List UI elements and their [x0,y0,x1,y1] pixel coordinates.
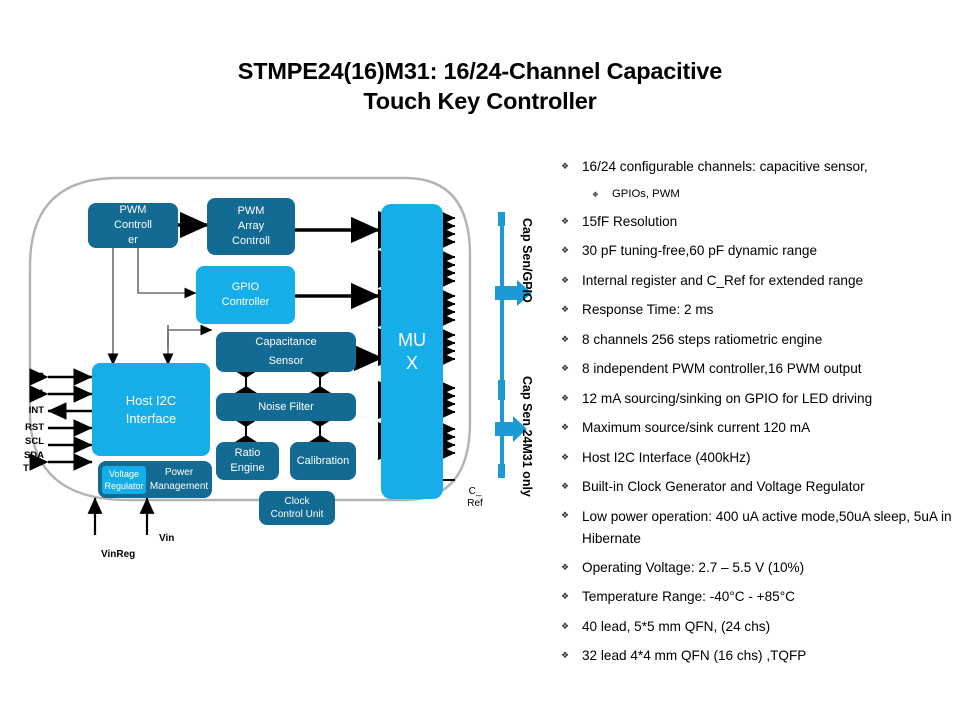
pin-label-a0: A0 [0,371,44,382]
bullet-diamond-icon: ❖ [561,207,569,237]
feature-item: ❖40 lead, 5*5 mm QFN, (24 chs) [556,612,956,642]
block-pwm-array-controll-label: PWM Array Controll [232,204,270,249]
channel-group-upper-label: Cap Sen/GPIO [520,218,534,303]
block-ratio-engine-label: Ratio Engine [230,446,264,476]
feature-item: ❖30 pF tuning-free,60 pF dynamic range [556,236,956,266]
feature-item: ❖32 lead 4*4 mm QFN (16 chs) ,TQFP [556,641,956,671]
bullet-diamond-icon: ❖ [561,472,569,502]
block-diagram: PWM Controll er PWM Array Controll GPIO … [0,150,560,590]
feature-item-label: Host I2C Interface (400kHz) [582,450,750,465]
feature-item-label: 8 channels 256 steps ratiometric engine [582,332,822,347]
bullet-diamond-icon: ❖ [561,553,569,583]
bullet-diamond-icon: ❖ [592,182,599,207]
block-capacitance-sensor[interactable]: Capacitance Sensor [216,332,356,372]
feature-item-label: Maximum source/sink current 120 mA [582,420,810,435]
feature-item-label: 15fF Resolution [582,214,677,229]
block-pwm-controller[interactable]: PWM Controll er [88,203,178,248]
bullet-diamond-icon: ❖ [561,266,569,296]
pin-label-sda: SDA [0,450,44,461]
block-voltage-regulator-label: Voltage Regulator [104,468,143,492]
block-noise-filter-label: Noise Filter [258,400,314,415]
feature-item: ❖12 mA sourcing/sinking on GPIO for LED … [556,384,956,414]
feature-item: ❖Response Time: 2 ms [556,295,956,325]
bullet-diamond-icon: ❖ [561,582,569,612]
feature-item: ❖15fF Resolution [556,207,956,237]
feature-item: ❖Operating Voltage: 2.7 – 5.5 V (10%) [556,553,956,583]
block-calibration[interactable]: Calibration [290,442,356,480]
feature-item: ❖Host I2C Interface (400kHz) [556,443,956,473]
feature-item: ❖16/24 configurable channels: capacitive… [556,152,956,182]
feature-item-label: 12 mA sourcing/sinking on GPIO for LED d… [582,391,872,406]
block-power-management-label: Power Management [148,466,210,494]
pin-label-scl: SCL [0,436,44,447]
pin-label-vin: Vin [159,533,174,544]
block-mux-label: MU X [398,329,426,375]
feature-item: ❖Low power operation: 400 uA active mode… [556,502,956,553]
bullet-diamond-icon: ❖ [561,354,569,384]
block-gpio-controller[interactable]: GPIO Controller [196,266,295,324]
feature-item: ❖Temperature Range: -40°C - +85°C [556,582,956,612]
bullet-diamond-icon: ❖ [561,295,569,325]
bullet-diamond-icon: ❖ [561,443,569,473]
block-power-management[interactable]: Power Management Voltage Regulator [98,461,212,498]
pin-label-int: INT [0,405,44,416]
feature-item-label: 8 independent PWM controller,16 PWM outp… [582,361,862,376]
feature-item-label: Low power operation: 400 uA active mode,… [582,509,952,546]
feature-item-label: Internal register and C_Ref for extended… [582,273,863,288]
feature-item-label: GPIOs, PWM [612,188,680,200]
feature-item-label: Built-in Clock Generator and Voltage Reg… [582,479,865,494]
block-noise-filter[interactable]: Noise Filter [216,393,356,421]
bullet-diamond-icon: ❖ [561,641,569,671]
bullet-diamond-icon: ❖ [561,152,569,182]
page-title: STMPE24(16)M31: 16/24-Channel Capacitive… [0,56,960,116]
pin-label-rst: RST [0,422,44,433]
bullet-diamond-icon: ❖ [561,502,569,528]
bullet-diamond-icon: ❖ [561,236,569,266]
bullet-diamond-icon: ❖ [561,384,569,414]
block-pwm-array-controll[interactable]: PWM Array Controll [207,198,295,255]
block-voltage-regulator[interactable]: Voltage Regulator [102,466,146,494]
block-host-i2c-interface[interactable]: Host I2C Interface [92,363,210,456]
block-clock-control-unit[interactable]: Clock Control Unit [259,491,335,525]
feature-item-label: 40 lead, 5*5 mm QFN, (24 chs) [582,619,770,634]
block-pwm-controller-label: PWM Controll er [114,203,152,248]
feature-item-label: Operating Voltage: 2.7 – 5.5 V (10%) [582,560,804,575]
feature-item: ❖8 channels 256 steps ratiometric engine [556,325,956,355]
block-mux[interactable]: MU X [381,204,443,499]
feature-item-label: 30 pF tuning-free,60 pF dynamic range [582,243,817,258]
feature-item-label: 32 lead 4*4 mm QFN (16 chs) ,TQFP [582,648,806,663]
feature-item-label: Temperature Range: -40°C - +85°C [582,589,795,604]
block-host-i2c-interface-label: Host I2C Interface [126,392,177,428]
pin-label-t: T [0,463,52,474]
block-clock-control-unit-label: Clock Control Unit [271,495,324,521]
page-title-line-1: STMPE24(16)M31: 16/24-Channel Capacitive [0,56,960,86]
bullet-diamond-icon: ❖ [561,612,569,642]
pin-label-vinreg: VinReg [101,549,135,560]
bullet-diamond-icon: ❖ [561,325,569,355]
block-ratio-engine[interactable]: Ratio Engine [216,442,279,480]
feature-item: ❖Maximum source/sink current 120 mA [556,413,956,443]
pin-label-a1: A1 [0,388,44,399]
block-capacitance-sensor-label: Capacitance Sensor [255,333,316,371]
cref-label: C_ Ref [455,486,495,510]
block-gpio-controller-label: GPIO Controller [222,280,270,310]
slide-root: STMPE24(16)M31: 16/24-Channel Capacitive… [0,0,960,720]
feature-item: ❖Built-in Clock Generator and Voltage Re… [556,472,956,502]
feature-item: ❖8 independent PWM controller,16 PWM out… [556,354,956,384]
feature-item-label: 16/24 configurable channels: capacitive … [582,159,868,174]
bullet-diamond-icon: ❖ [561,413,569,443]
feature-item: ❖GPIOs, PWM [556,182,956,207]
block-calibration-label: Calibration [297,454,350,469]
page-title-line-2: Touch Key Controller [0,86,960,116]
feature-item: ❖Internal register and C_Ref for extende… [556,266,956,296]
channel-group-lower-label: Cap Sen 24M31 only [520,376,534,497]
feature-list: ❖16/24 configurable channels: capacitive… [556,152,956,671]
feature-item-label: Response Time: 2 ms [582,302,713,317]
